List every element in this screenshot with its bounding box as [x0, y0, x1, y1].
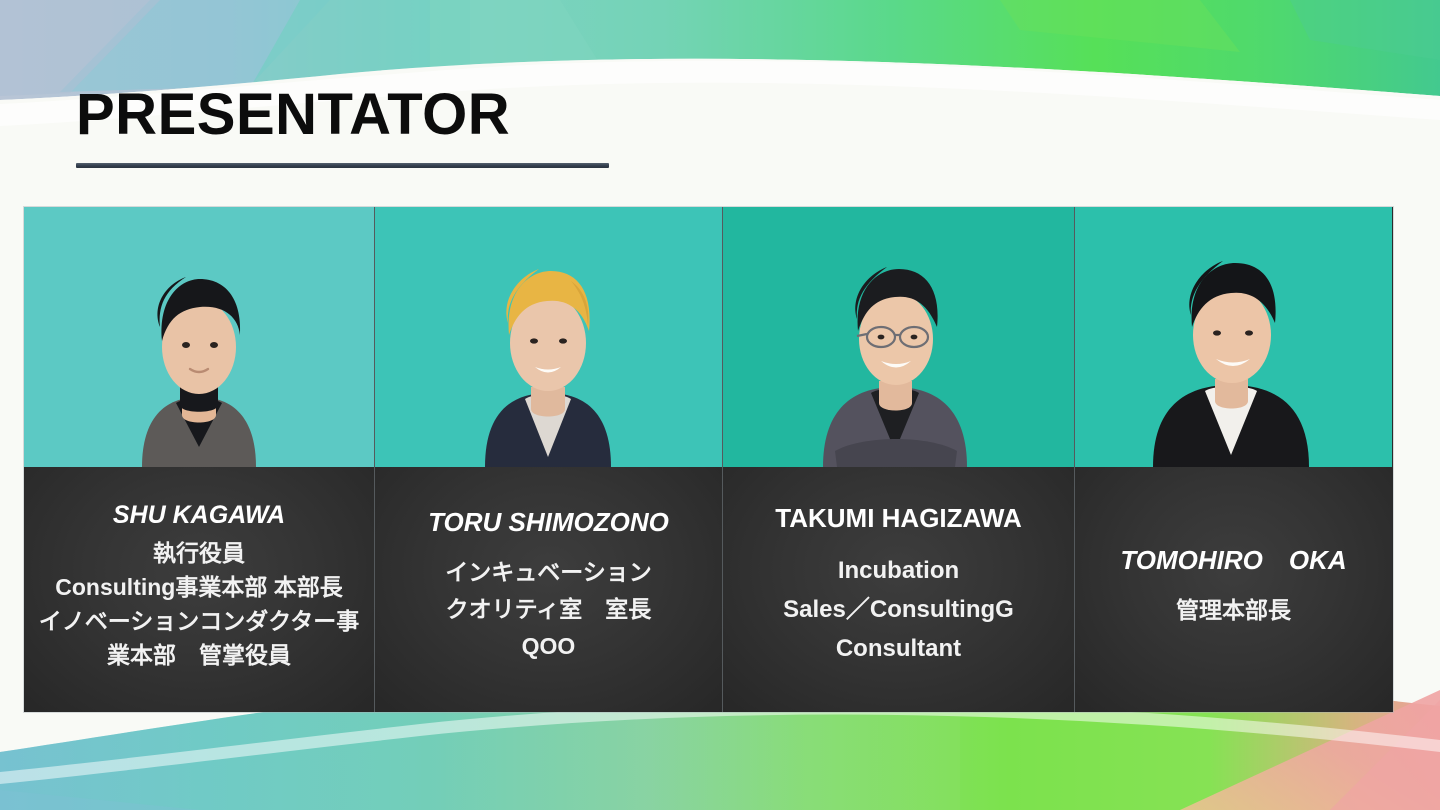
- role-line: QOO: [445, 628, 652, 665]
- presenter-role: 管理本部長: [1176, 594, 1291, 627]
- role-line: Incubation: [783, 552, 1014, 591]
- presenter-photo: [24, 207, 374, 467]
- presenter-name: SHU KAGAWA: [113, 501, 285, 530]
- role-line: クオリティ室 室長: [445, 591, 652, 628]
- role-line: イノベーションコンダクター事: [39, 605, 360, 639]
- presenter-name: TAKUMI HAGIZAWA: [775, 504, 1022, 534]
- role-line: Sales／ConsultingG: [783, 591, 1014, 630]
- role-line: Consulting事業本部 本部長: [39, 571, 360, 605]
- role-line: 管理本部長: [1176, 594, 1291, 627]
- presenter-photo: [723, 207, 1074, 467]
- presenter-photo: [1075, 207, 1392, 467]
- presenter-info: TOMOHIRO OKA 管理本部長: [1075, 467, 1392, 712]
- presentation-slide: PRESENTATOR: [0, 0, 1440, 810]
- presenter-card[interactable]: TOMOHIRO OKA 管理本部長: [1075, 207, 1392, 712]
- role-line: インキュベーション: [445, 554, 652, 591]
- presenter-info: SHU KAGAWA 執行役員 Consulting事業本部 本部長 イノベーシ…: [24, 467, 374, 712]
- portrait-illustration-4: [1075, 207, 1392, 467]
- presenter-card[interactable]: TAKUMI HAGIZAWA Incubation Sales／Consult…: [723, 207, 1075, 712]
- presenter-card[interactable]: TORU SHIMOZONO インキュベーション クオリティ室 室長 QOO: [375, 207, 723, 712]
- presenter-info: TORU SHIMOZONO インキュベーション クオリティ室 室長 QOO: [375, 467, 722, 712]
- role-line: 執行役員: [39, 537, 360, 571]
- page-title: PRESENTATOR: [76, 86, 696, 144]
- presenter-role: インキュベーション クオリティ室 室長 QOO: [445, 554, 652, 666]
- presenter-card[interactable]: SHU KAGAWA 執行役員 Consulting事業本部 本部長 イノベーシ…: [24, 207, 375, 712]
- presenter-name: TORU SHIMOZONO: [428, 508, 669, 538]
- portrait-illustration-3: [723, 207, 1074, 467]
- presenter-card-row: SHU KAGAWA 執行役員 Consulting事業本部 本部長 イノベーシ…: [24, 207, 1393, 712]
- title-underline: [76, 163, 609, 168]
- role-line: 業本部 管掌役員: [39, 639, 360, 673]
- portrait-illustration-1: [24, 207, 374, 467]
- role-line: Consultant: [783, 630, 1014, 669]
- presenter-name: TOMOHIRO OKA: [1120, 546, 1346, 576]
- title-block: PRESENTATOR: [76, 86, 696, 168]
- presenter-role: 執行役員 Consulting事業本部 本部長 イノベーションコンダクター事 業…: [39, 537, 360, 672]
- presenter-role: Incubation Sales／ConsultingG Consultant: [783, 552, 1014, 669]
- presenter-photo: [375, 207, 722, 467]
- presenter-info: TAKUMI HAGIZAWA Incubation Sales／Consult…: [723, 467, 1074, 712]
- portrait-illustration-2: [375, 207, 722, 467]
